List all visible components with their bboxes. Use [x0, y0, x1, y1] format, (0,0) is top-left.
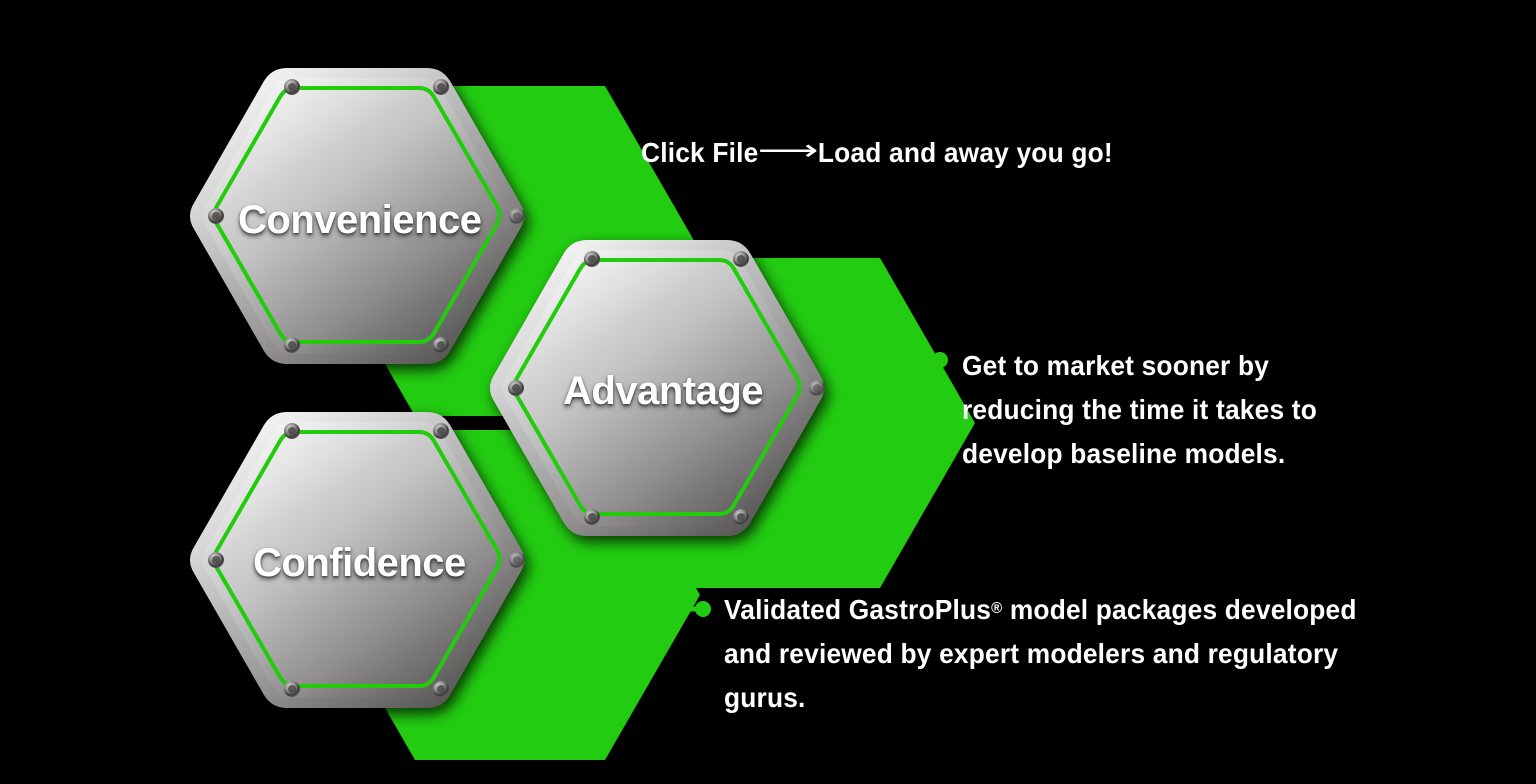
diagram-canvas: Convenience Advantage Confidence Click F…	[0, 0, 1536, 784]
callout-confidence-text-before: Validated GastroPlus	[724, 594, 991, 625]
callout-convenience-tail: Load and away you go!	[818, 137, 1113, 168]
connector-dot-advantage	[932, 352, 948, 368]
callout-advantage: Get to market sooner by reducing the tim…	[962, 344, 1366, 476]
callout-confidence: Validated GastroPlus® model packages dev…	[724, 587, 1401, 720]
connector-dot-confidence	[695, 601, 711, 617]
callout-convenience: Click File⟶Load and away you go!	[641, 129, 1113, 175]
registered-mark-icon: ®	[991, 600, 1002, 617]
arrow-right-icon: ⟶	[744, 129, 833, 173]
connector-dot-convenience	[615, 140, 631, 156]
callout-convenience-lead: Click File	[641, 137, 758, 168]
